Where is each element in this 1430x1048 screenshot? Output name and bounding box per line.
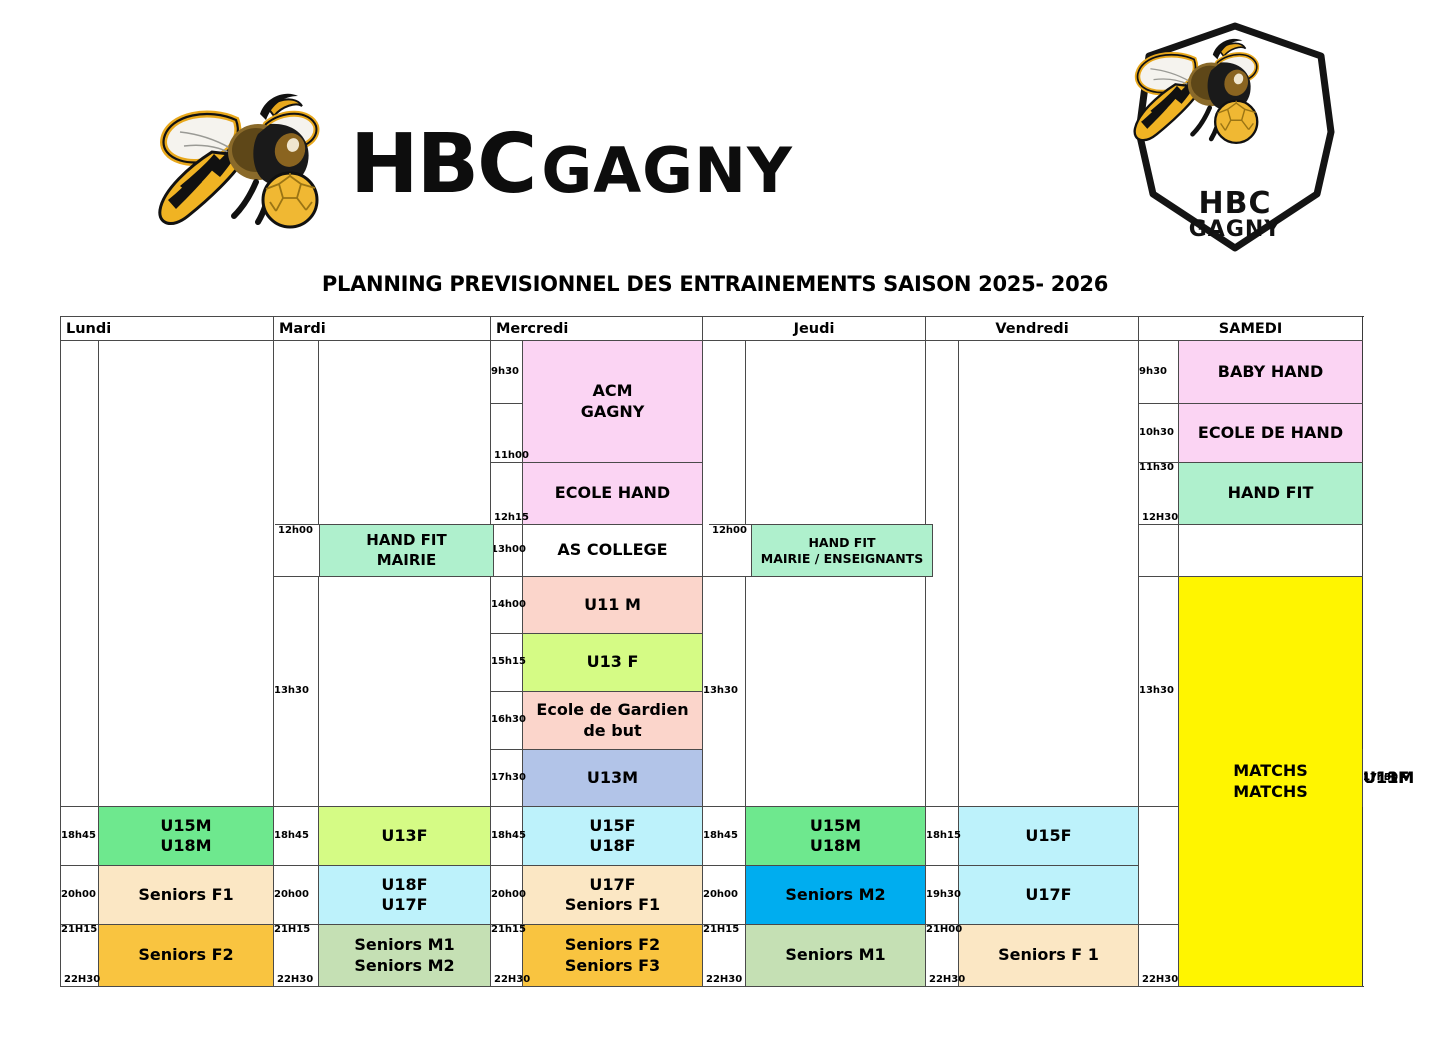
lundi-time-18h45: 18h45 [61, 807, 99, 866]
lundi-morning-empty [99, 341, 274, 807]
mercredi-time-12h15: 12h15 [491, 463, 523, 525]
samedi-time-start: 11h30 [1139, 462, 1174, 473]
matchs-label-2: MATCHS [1233, 782, 1308, 802]
mercredi-event-u15f-u18f[interactable]: U15F U18F [523, 807, 703, 866]
event-line-2: Seniors M2 [319, 956, 490, 976]
day-header-samedi: SAMEDI [1139, 317, 1363, 341]
day-header-mercredi: Mercredi [491, 317, 703, 341]
event-line-1: U18F [319, 875, 490, 895]
mercredi-time-15h15: 15h15 [491, 634, 523, 692]
lundi-event-seniors-f1[interactable]: Seniors F1 [99, 866, 274, 925]
event-line-1: Seniors F2 [523, 935, 702, 955]
lundi-time-start: 21H15 [61, 924, 97, 935]
jeudi-time-20h00: 20h00 [703, 866, 746, 925]
event-line-1: U15M [99, 816, 273, 836]
jeudi-event-u15m-u18m[interactable]: U15M U18M [746, 807, 926, 866]
day-header-vendredi: Vendredi [926, 317, 1139, 341]
samedi-event-matchs[interactable]: MATCHS MATCHS [1179, 577, 1363, 987]
vendredi-time-end: 22H30 [929, 975, 965, 986]
schedule-row-18h45: 18h45 U15M U18M 18h45 U13F 18h45 U15F U1… [61, 807, 1363, 866]
samedi-event-hand-fit[interactable]: HAND FIT [1179, 463, 1363, 525]
club-crest-icon: HBC GAGNY [1085, 8, 1385, 263]
matchs-label-1: MATCHS [1233, 761, 1308, 781]
club-wordmark: HBC GAGNY [350, 124, 793, 206]
event-line-1: HAND FIT [754, 535, 930, 551]
event-line-2: U18F [523, 836, 702, 856]
schedule-row-20h00: 20h00 Seniors F1 20h00 U18F U17F 20h00 U… [61, 866, 1363, 925]
jeudi-afternoon-empty [746, 577, 926, 807]
vendredi-event-seniors-f1[interactable]: Seniors F 1 [959, 925, 1139, 987]
event-line-1: Ecole de Gardien [523, 700, 702, 720]
samedi-time-9h30: 9h30 [1139, 341, 1179, 404]
schedule-table: Lundi Mardi Mercredi Jeudi Vendredi SAME… [60, 316, 1363, 987]
mardi-time-13h30: 13h30 [274, 577, 319, 807]
mercredi-event-ecole-gardien[interactable]: Ecole de Gardien de but [523, 692, 703, 750]
mercredi-event-ecole-hand[interactable]: ECOLE HAND [523, 463, 703, 525]
mardi-afternoon-empty [319, 577, 491, 807]
wordmark-hbc: HBC [350, 124, 535, 206]
lundi-time-20h00: 20h00 [61, 866, 99, 925]
crest-hbc-text: HBC [1199, 186, 1272, 221]
event-line-2: U18M [99, 836, 273, 856]
mardi-time-start: 21H15 [274, 924, 310, 935]
schedule-header-row: Lundi Mardi Mercredi Jeudi Vendredi SAME… [61, 317, 1363, 341]
jeudi-time-12h00: 12h00 [709, 525, 752, 576]
lundi-time-end: 22H30 [64, 975, 100, 986]
jeudi-event-hand-fit-enseignants[interactable]: HAND FIT MAIRIE / ENSEIGNANTS [752, 525, 933, 576]
jeudi-event-seniors-m2[interactable]: Seniors M2 [746, 866, 926, 925]
mercredi-event-u11m[interactable]: U11 M [523, 577, 703, 634]
mercredi-time-20h00: 20h00 [491, 866, 523, 925]
mercredi-event-as-college[interactable]: AS COLLEGE [523, 525, 703, 577]
event-line-1: U15F [523, 816, 702, 836]
event-line-1: U17F [523, 875, 702, 895]
samedi-midday-empty [1179, 525, 1363, 577]
mercredi-event-u13f[interactable]: U13 F [523, 634, 703, 692]
samedi-event-baby-hand[interactable]: BABY HAND [1179, 341, 1363, 404]
samedi-time-end: 12H30 [1142, 513, 1178, 524]
bee-icon [150, 90, 330, 240]
page-header: HBC GAGNY [0, 0, 1430, 262]
mercredi-time-18h45: 18h45 [491, 807, 523, 866]
vendredi-time-start: 21H00 [926, 924, 962, 935]
vendredi-time-18h15: 18h15 [926, 807, 959, 866]
jeudi-time-end: 22H30 [706, 975, 742, 986]
event-line-1: ACM [523, 381, 702, 401]
samedi-time-11h30: 11h30 12H30 [1139, 463, 1179, 525]
lundi-time-17h30: 17h30 [491, 750, 523, 807]
schedule-row-21h15: 21H15 22H30 Seniors F2 21H15 22H30 Senio… [61, 925, 1363, 987]
jeudi-time-13h30: 13h30 [703, 577, 746, 807]
event-line-2: MAIRIE / ENSEIGNANTS [754, 551, 930, 567]
day-header-lundi: Lundi [61, 317, 274, 341]
lundi-event-seniors-f2[interactable]: Seniors F2 [99, 925, 274, 987]
mercredi-time-9h30: 9h30 [491, 341, 523, 404]
mercredi-time-11h00: 11h00 [491, 404, 523, 463]
samedi-time-13h30: 13h30 [1139, 577, 1179, 807]
jeudi-time-start: 21H15 [703, 924, 739, 935]
mardi-time-20h00: 20h00 [274, 866, 319, 925]
event-line-2: U17F [319, 895, 490, 915]
jeudi-time-18h45: 18h45 [703, 807, 746, 866]
event-line-1: U15M [746, 816, 925, 836]
lundi-event-u15m-u18m[interactable]: U15M U18M [99, 807, 274, 866]
mercredi-time-16h30: 16h30 [491, 692, 523, 750]
event-line-2: GAGNY [523, 402, 702, 422]
samedi-event-ecole-de-hand[interactable]: ECOLE DE HAND [1179, 404, 1363, 463]
vendredi-time-19h30: 19h30 [926, 866, 959, 925]
mercredi-time-start: 21h15 [491, 924, 526, 935]
day-header-jeudi: Jeudi [703, 317, 926, 341]
samedi-time-22h30: 22H30 [1139, 925, 1179, 987]
event-line-1: Seniors M1 [319, 935, 490, 955]
mardi-time-end: 22H30 [277, 975, 313, 986]
samedi-time-blank-1 [1139, 525, 1179, 577]
crest-gagny-text: GAGNY [1189, 217, 1282, 242]
mercredi-event-seniors-f2-f3[interactable]: Seniors F2 Seniors F3 [523, 925, 703, 987]
mardi-time-12h00: 12h00 [275, 525, 320, 576]
jeudi-event-seniors-m1[interactable]: Seniors M1 [746, 925, 926, 987]
lundi-time-empty [61, 341, 99, 807]
wordmark-gagny: GAGNY [541, 140, 793, 202]
jeudi-slot-12h00: 12h00 HAND FIT MAIRIE / ENSEIGNANTS [709, 524, 933, 577]
mardi-event-u13f[interactable]: U13F [319, 807, 491, 866]
mardi-event-u18f-u17f[interactable]: U18F U17F [319, 866, 491, 925]
mardi-event-hand-fit-mairie[interactable]: HAND FIT MAIRIE [320, 525, 494, 576]
mercredi-time-14h00: 14h00 [491, 577, 523, 634]
mardi-time-18h45: 18h45 [274, 807, 319, 866]
jeudi-time-21h15: 21H15 22H30 [703, 925, 746, 987]
event-line-2: U18M [746, 836, 925, 856]
mercredi-event-acm-gagny[interactable]: ACM GAGNY [523, 341, 703, 463]
vendredi-event-u15f[interactable]: U15F [959, 807, 1139, 866]
mercredi-time-end: 22H30 [494, 975, 530, 986]
page-title: PLANNING PREVISIONNEL DES ENTRAINEMENTS … [0, 272, 1430, 296]
event-line-2: de but [523, 721, 702, 741]
mardi-slot-12h00: 12h00 HAND FIT MAIRIE [275, 524, 494, 577]
club-logo-banner: HBC GAGNY [150, 85, 940, 245]
mardi-event-seniors-m1-m2[interactable]: Seniors M1 Seniors M2 [319, 925, 491, 987]
mercredi-event-u17f-seniors-f1[interactable]: U17F Seniors F1 [523, 866, 703, 925]
event-line-1: HAND FIT [322, 531, 491, 550]
vendredi-morning-empty [959, 341, 1139, 807]
lundi-time-21h15: 21H15 22H30 [61, 925, 99, 987]
event-line-2: Seniors F3 [523, 956, 702, 976]
day-header-mardi: Mardi [274, 317, 491, 341]
event-line-2: MAIRIE [322, 551, 491, 570]
vendredi-event-u17f[interactable]: U17F [959, 866, 1139, 925]
mercredi-time-13h00: 13h00 [491, 525, 523, 577]
schedule-row-morning-1: 9h30 ACM GAGNY 9h30 BABY HAND [61, 341, 1363, 404]
mercredi-time-21h15: 21h15 22H30 [491, 925, 523, 987]
lundi-event-u13m[interactable]: U13M [523, 750, 703, 807]
samedi-time-10h30: 10h30 [1139, 404, 1179, 463]
event-line-2: Seniors F1 [523, 895, 702, 915]
vendredi-time-21h00: 21H00 22H30 [926, 925, 959, 987]
mardi-time-21h15: 21H15 22H30 [274, 925, 319, 987]
training-schedule: Lundi Mardi Mercredi Jeudi Vendredi SAME… [60, 316, 1362, 1006]
